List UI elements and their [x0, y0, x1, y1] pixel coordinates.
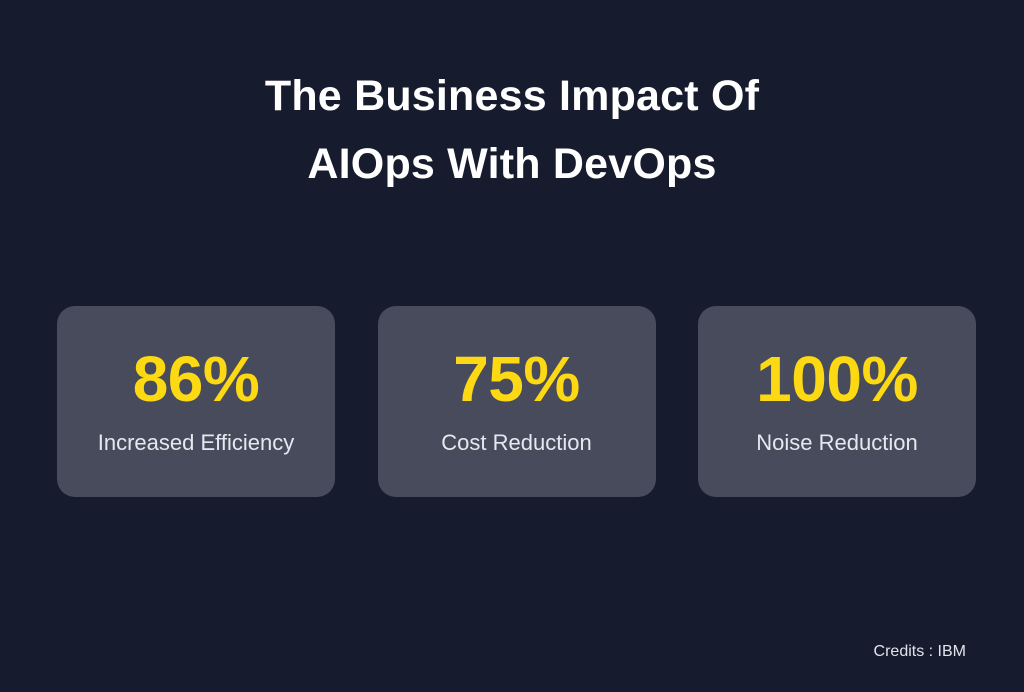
- page-title: The Business Impact Of AIOps With DevOps: [0, 62, 1024, 198]
- page-title-line-1: The Business Impact Of: [0, 62, 1024, 130]
- stat-value: 86%: [133, 344, 260, 414]
- stat-cards-row: 86% Increased Efficiency 75% Cost Reduct…: [57, 306, 976, 497]
- stat-value: 75%: [453, 344, 580, 414]
- stat-label: Noise Reduction: [756, 430, 917, 456]
- stat-card-increased-efficiency: 86% Increased Efficiency: [57, 306, 335, 497]
- stat-value: 100%: [756, 344, 918, 414]
- page-title-line-2: AIOps With DevOps: [0, 130, 1024, 198]
- stat-card-cost-reduction: 75% Cost Reduction: [378, 306, 656, 497]
- stat-label: Increased Efficiency: [98, 430, 294, 456]
- stat-label: Cost Reduction: [441, 430, 591, 456]
- infographic-canvas: The Business Impact Of AIOps With DevOps…: [0, 0, 1024, 692]
- stat-card-noise-reduction: 100% Noise Reduction: [698, 306, 976, 497]
- credits-text: Credits : IBM: [874, 642, 966, 662]
